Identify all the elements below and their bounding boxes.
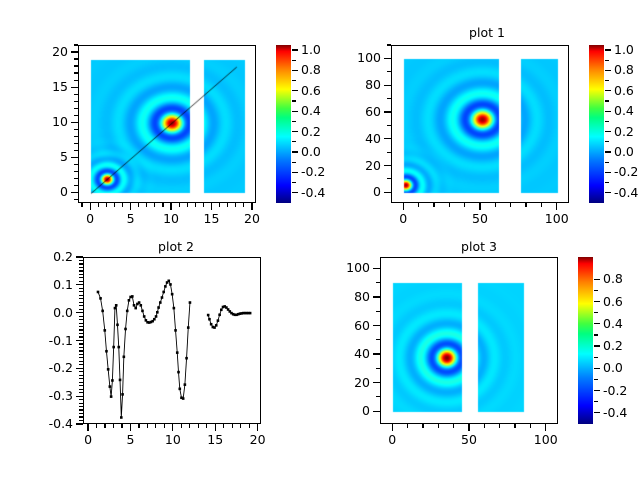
colorbar-tick [605,70,611,71]
x-tick-major [87,424,88,431]
colorbar-tick [292,172,298,173]
colorbar-tick-label: 0.8 [603,273,623,286]
y-tick-minor [74,72,78,73]
colorbar-tick [292,70,298,71]
colorbar-tick [292,192,298,193]
y-tick-major [384,85,391,86]
x-tick-major [170,203,171,210]
x-tick-label: 5 [127,213,135,226]
y-tick-minor [74,65,78,66]
y-tick-minor [74,143,78,144]
y-tick-minor [79,389,83,390]
colorbar-tick-minor [605,60,609,61]
colorbar-tick-minor [292,121,296,122]
y-tick-minor [79,357,83,358]
y-tick-major [384,111,391,112]
y-tick-minor [79,378,83,379]
y-tick-major [384,192,391,193]
colorbar-tick-label: 0.8 [614,64,634,77]
x-tick-minor [154,203,155,207]
y-tick-minor [79,302,83,303]
y-tick-label: 10 [26,116,68,129]
colorbar-tick-label: -0.2 [614,166,638,179]
y-tick-minor [74,150,78,151]
colorbar-tick-minor [594,379,598,380]
colorbar-tick [605,49,611,50]
y-tick-minor [74,185,78,186]
x-tick-major [403,203,404,210]
y-tick-label: 0 [328,405,370,418]
panel-bottom-right-colorbar [578,257,593,424]
y-tick-minor [376,396,380,397]
x-tick-minor [98,203,99,207]
y-tick-label: 0 [339,186,381,199]
panel-top-left-axes [78,45,256,203]
line-marker [131,295,134,298]
y-tick-minor [79,413,83,414]
x-tick-label: 50 [461,434,477,447]
y-tick-label: 60 [328,319,370,332]
x-tick-major [468,424,469,431]
y-tick-minor [79,263,83,264]
colorbar-tick [594,368,600,369]
y-tick-major [71,122,78,123]
colorbar-tick-label: 0.6 [614,85,634,98]
y-tick-minor [387,98,391,99]
colorbar-tick-label: -0.2 [301,166,325,179]
x-tick-minor [189,424,190,428]
y-tick-major [71,192,78,193]
colorbar-tick-minor [594,357,598,358]
x-tick-label: 0 [84,434,92,447]
colorbar-tick-minor [594,312,598,313]
y-tick-label: 80 [328,291,370,304]
y-tick-minor [376,311,380,312]
y-tick-minor [376,368,380,369]
x-tick-major [392,424,393,431]
line-marker [220,308,223,311]
line-marker [114,307,117,310]
panel-bottom-left-axes [83,257,261,424]
colorbar-tick [594,301,600,302]
x-tick-minor [223,424,224,428]
x-tick-minor [206,424,207,428]
x-tick-major [130,424,131,431]
y-tick-label: 60 [339,106,381,119]
line-marker [120,416,123,419]
x-tick-major [172,424,173,431]
line-marker [133,304,136,307]
x-tick-major [215,424,216,431]
x-tick-minor [422,424,423,428]
colorbar-tick-minor [594,401,598,402]
panel-bottom-right-image [381,258,557,423]
y-tick-minor [79,406,83,407]
colorbar-tick-label: 0.4 [603,318,623,331]
line-marker [169,283,172,286]
x-tick-minor [510,203,511,207]
y-tick-major [373,268,380,269]
colorbar-tick [605,131,611,132]
y-tick-label: 20 [26,46,68,59]
x-tick-minor [203,203,204,207]
panel-bottom-right-axes [380,257,558,424]
x-tick-minor [232,424,233,428]
x-tick-label: 10 [165,434,181,447]
y-tick-minor [74,136,78,137]
x-tick-minor [449,203,450,207]
x-tick-minor [122,203,123,207]
x-tick-major [257,424,258,431]
y-tick-label: 20 [328,376,370,389]
y-tick-minor [79,382,83,383]
y-tick-label: 40 [328,348,370,361]
x-tick-minor [499,424,500,428]
line-marker [210,323,213,326]
colorbar-tick-minor [605,162,609,163]
line-marker [105,350,108,353]
colorbar-tick-label: 0.4 [301,105,321,118]
x-tick-label: 100 [534,434,558,447]
y-tick-label: 100 [339,52,381,65]
line-marker [126,310,129,313]
x-tick-minor [514,424,515,428]
y-tick-minor [74,164,78,165]
x-tick-minor [541,203,542,207]
colorbar-tick-label: 0.6 [301,85,321,98]
y-tick-major [76,256,83,257]
y-tick-minor [376,339,380,340]
x-tick-major [556,203,557,210]
x-tick-minor [407,424,408,428]
x-tick-minor [484,424,485,428]
y-tick-minor [79,288,83,289]
y-tick-major [76,423,83,424]
panel-top-left-image [79,46,255,202]
x-tick-minor [438,424,439,428]
line-marker [164,285,167,288]
y-tick-label: 0 [26,186,68,199]
line-marker [99,297,102,300]
line-marker [189,301,192,304]
line-marker [173,307,176,310]
line-marker [116,324,119,327]
y-tick-minor [79,343,83,344]
line-marker [121,393,124,396]
y-tick-label: -0.4 [31,418,73,431]
line-marker [156,311,159,314]
y-tick-major [373,382,380,383]
x-tick-minor [162,203,163,207]
y-tick-label: 0.1 [31,279,73,292]
y-tick-label: 0.2 [31,251,73,264]
panel-bottom-left-line-series [84,258,262,425]
line-marker [155,315,158,318]
y-tick-minor [79,323,83,324]
colorbar-tick [292,151,298,152]
x-tick-label: 15 [204,213,220,226]
colorbar-tick-minor [292,60,296,61]
y-tick-minor [79,295,83,296]
y-tick-minor [79,364,83,365]
y-tick-minor [79,329,83,330]
colorbar-tick-label: 0.2 [603,340,623,353]
y-tick-minor [79,392,83,393]
y-tick-minor [74,108,78,109]
y-tick-minor [387,44,391,45]
y-tick-minor [79,260,83,261]
colorbar-tick-label: 0.2 [614,125,634,138]
panel-bottom-right-title: plot 3 [461,241,497,254]
x-tick-major [90,203,91,210]
line-marker [161,296,164,299]
line-marker [119,379,122,382]
y-tick-major [76,312,83,313]
colorbar-tick-minor [292,182,296,183]
y-tick-minor [79,267,83,268]
line-marker [213,326,216,329]
y-tick-minor [79,399,83,400]
line-marker [176,351,179,354]
y-tick-minor [74,178,78,179]
x-tick-minor [121,424,122,428]
y-tick-label: -0.3 [31,390,73,403]
line-marker [111,379,114,382]
line-marker [143,315,146,318]
y-tick-minor [79,291,83,292]
y-tick-major [76,368,83,369]
colorbar-tick [594,279,600,280]
x-tick-minor [187,203,188,207]
line-marker [112,346,115,349]
y-tick-major [373,325,380,326]
x-tick-minor [453,424,454,428]
line-marker [174,329,177,332]
colorbar-tick-minor [594,290,598,291]
colorbar-tick-label: 0.0 [301,146,321,159]
x-tick-minor [155,424,156,428]
x-tick-minor [147,424,148,428]
line-marker [107,368,110,371]
colorbar-tick-minor [605,100,609,101]
line-marker [103,329,106,332]
line-marker [157,306,160,309]
line-marker [185,357,188,360]
y-tick-major [384,138,391,139]
x-tick-minor [530,424,531,428]
y-tick-label: 0.0 [31,306,73,319]
colorbar-tick [292,131,298,132]
line-marker [208,318,211,321]
y-tick-minor [79,420,83,421]
y-tick-minor [79,277,83,278]
y-tick-minor [79,375,83,376]
line-marker [117,346,120,349]
x-tick-minor [235,203,236,207]
x-tick-minor [198,424,199,428]
line-marker [184,383,187,386]
colorbar-tick-label: -0.4 [603,407,627,420]
y-tick-minor [79,361,83,362]
line-marker [159,301,162,304]
y-tick-minor [74,115,78,116]
line-marker [115,304,118,307]
x-tick-label: 15 [207,434,223,447]
y-tick-label: -0.2 [31,362,73,375]
colorbar-tick-label: 0.0 [614,146,634,159]
x-tick-minor [181,424,182,428]
x-tick-minor [146,203,147,207]
x-tick-minor [195,203,196,207]
x-tick-label: 100 [545,213,569,226]
y-tick-minor [79,298,83,299]
panel-bottom-left-title: plot 2 [158,241,194,254]
y-tick-minor [74,171,78,172]
x-tick-major [545,424,546,431]
x-tick-major [130,203,131,210]
colorbar-tick-label: 1.0 [301,44,321,57]
line-marker [123,356,126,359]
x-tick-minor [464,203,465,207]
colorbar-tick-minor [292,162,296,163]
y-tick-minor [79,305,83,306]
y-tick-minor [376,282,380,283]
x-tick-minor [243,203,244,207]
x-tick-label: 50 [472,213,488,226]
line-marker [215,324,218,327]
colorbar-tick [605,90,611,91]
colorbar-tick-label: 0.2 [301,125,321,138]
y-tick-minor [79,281,83,282]
colorbar-tick [605,111,611,112]
colorbar-tick-minor [292,80,296,81]
colorbar-tick [292,111,298,112]
y-tick-major [373,353,380,354]
y-tick-minor [79,333,83,334]
x-tick-label: 0 [388,434,396,447]
y-tick-minor [74,58,78,59]
y-tick-minor [79,336,83,337]
y-tick-major [373,411,380,412]
y-tick-minor [387,152,391,153]
y-tick-minor [387,178,391,179]
y-tick-label: -0.1 [31,334,73,347]
y-tick-minor [79,270,83,271]
y-tick-minor [79,316,83,317]
line-marker [218,313,221,316]
y-tick-minor [387,125,391,126]
y-tick-major [76,396,83,397]
x-tick-minor [495,203,496,207]
y-tick-label: 80 [339,79,381,92]
y-tick-minor [74,101,78,102]
y-tick-minor [79,354,83,355]
colorbar-tick-minor [292,141,296,142]
x-tick-major [211,203,212,210]
line-marker [141,310,144,313]
y-tick-minor [74,44,78,45]
y-tick-minor [79,309,83,310]
y-tick-label: 5 [26,151,68,164]
line-marker [101,310,104,313]
panel-top-right-colorbar [589,45,604,203]
x-tick-major [251,203,252,210]
y-tick-major [71,87,78,88]
x-tick-minor [138,424,139,428]
y-tick-major [76,340,83,341]
colorbar-tick [292,49,298,50]
x-tick-minor [418,203,419,207]
y-tick-label: 100 [328,262,370,275]
y-tick-minor [79,326,83,327]
line-marker [249,312,252,315]
y-tick-minor [79,385,83,386]
colorbar-tick-label: 0.0 [603,362,623,375]
y-tick-minor [74,94,78,95]
line-marker [153,318,156,321]
y-tick-major [373,296,380,297]
y-tick-minor [79,347,83,348]
y-tick-major [71,157,78,158]
x-tick-major [479,203,480,210]
y-tick-major [76,284,83,285]
x-tick-label: 20 [244,213,260,226]
y-tick-minor [387,71,391,72]
panel-top-right-title: plot 1 [469,27,505,40]
x-tick-minor [114,203,115,207]
colorbar-tick [605,151,611,152]
figure-canvas: 0510152005101520 1.00.80.60.40.20.0-0.2-… [0,0,640,480]
y-tick-minor [79,416,83,417]
y-tick-major [71,51,78,52]
line-marker [139,304,142,307]
x-tick-minor [240,424,241,428]
line-marker [167,280,170,283]
y-tick-minor [74,80,78,81]
colorbar-tick-minor [605,182,609,183]
colorbar-tick-label: -0.4 [614,187,638,200]
line-marker [138,301,141,304]
x-tick-minor [433,203,434,207]
y-tick-major [384,165,391,166]
x-tick-minor [106,203,107,207]
line-marker [187,326,190,329]
colorbar-tick-label: 1.0 [614,44,634,57]
line-marker [109,385,112,388]
x-tick-minor [525,203,526,207]
line-marker [162,291,165,294]
line-marker [178,388,181,391]
panel-top-right-axes [391,45,569,203]
y-tick-minor [79,409,83,410]
colorbar-tick [605,192,611,193]
y-tick-label: 15 [26,81,68,94]
y-tick-label: 20 [339,159,381,172]
colorbar-tick [594,412,600,413]
x-tick-minor [219,203,220,207]
x-tick-label: 0 [86,213,94,226]
line-marker [110,395,113,398]
colorbar-tick-label: -0.4 [301,187,325,200]
y-tick-label: 40 [339,132,381,145]
y-tick-minor [79,319,83,320]
x-tick-minor [96,424,97,428]
colorbar-tick [605,172,611,173]
line-marker [97,291,100,294]
y-tick-minor [74,199,78,200]
x-tick-label: 20 [250,434,266,447]
x-tick-minor [249,424,250,428]
